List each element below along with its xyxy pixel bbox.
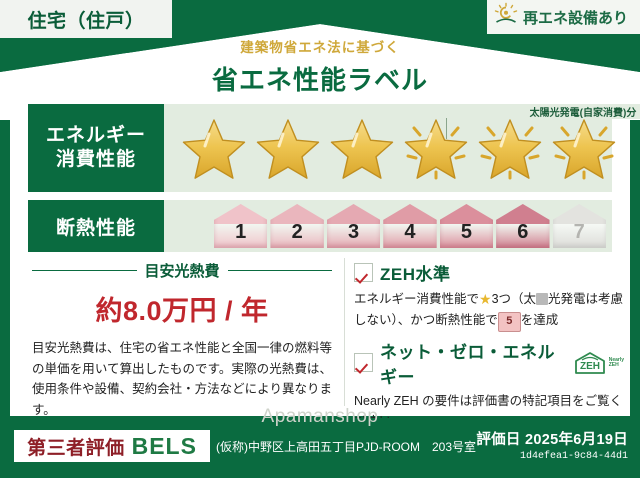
insulation-level-house-1: 1 bbox=[214, 204, 267, 248]
insulation-performance-label: 断熱性能 bbox=[28, 200, 164, 252]
zeh-logo-subtext: Nearly ZEH bbox=[609, 358, 624, 369]
zeh-level-title-row: ZEH水準 bbox=[354, 260, 624, 285]
zeh-logo: ZEH Nearly ZEH bbox=[573, 351, 624, 375]
insulation-level-scale: 1234567 bbox=[214, 200, 606, 252]
bels-logo-en: BELS bbox=[132, 433, 197, 460]
rule-right bbox=[228, 270, 333, 271]
zeh-desc-part-3: 光発電 bbox=[548, 292, 586, 306]
evaluation-id: 1d4efea1-9c84-44d1 bbox=[476, 451, 628, 462]
label-heading: 建築物省エネ法に基づく 省エネ性能ラベル bbox=[0, 36, 640, 97]
evaluation-info: 評価日 2025年6月19日 1d4efea1-9c84-44d1 bbox=[476, 428, 628, 462]
svg-text:ZEH: ZEH bbox=[580, 361, 600, 372]
renewable-equipment-badge: 再エネ設備あり bbox=[485, 0, 640, 36]
energy-star-2 bbox=[252, 111, 324, 185]
zeh-desc-part-5: を達成 bbox=[521, 313, 559, 327]
solar-portion-caption: 太陽光発電(自家消費)分 bbox=[447, 104, 640, 119]
zeh-house-icon: ZEH bbox=[573, 351, 607, 375]
insulation-level-house-2: 2 bbox=[270, 204, 323, 248]
zeh-level-checkbox-icon bbox=[354, 263, 373, 282]
insulation-performance-row: 断熱性能 1234567 bbox=[28, 200, 612, 252]
utility-cost-amount: 約8.0万円 / 年 bbox=[32, 289, 332, 328]
insulation-level-house-3: 3 bbox=[327, 204, 380, 248]
insulation-level-house-7: 7 bbox=[553, 204, 606, 248]
watermark: Apamanshop bbox=[0, 406, 640, 428]
zeh-desc-part-1: エネルギー消費性能で bbox=[354, 292, 479, 306]
zeh-level-block: ZEH水準 エネルギー消費性能で★3つ（太光発電は考慮しない）、かつ断熱性能で5… bbox=[354, 260, 624, 332]
heading-title: 省エネ性能ラベル bbox=[0, 60, 640, 97]
insulation-level-number: 3 bbox=[348, 221, 359, 244]
bels-logo-jp: 第三者評価 bbox=[27, 433, 125, 460]
rule-left bbox=[32, 270, 137, 271]
property-address: (仮称)中野区上高田五丁目PJD-ROOM 203号室 bbox=[216, 438, 476, 455]
energy-performance-label: エネルギー 消費性能 bbox=[28, 104, 164, 192]
insulation-level-number: 5 bbox=[461, 221, 472, 244]
energy-star-1 bbox=[178, 111, 250, 185]
evaluation-date: 評価日 2025年6月19日 bbox=[476, 428, 628, 449]
energy-performance-value: 太陽光発電(自家消費)分 bbox=[164, 104, 612, 192]
building-type-badge: 住宅（住戸） bbox=[0, 0, 174, 40]
zeh-level-description: エネルギー消費性能で★3つ（太光発電は考慮しない）、かつ断熱性能で5を達成 bbox=[354, 288, 624, 332]
net-zero-title: ネット・ゼロ・エネルギー bbox=[380, 338, 562, 388]
zeh-level-title: ZEH水準 bbox=[380, 260, 451, 285]
redacted-character bbox=[536, 293, 548, 305]
insulation-level-number: 4 bbox=[404, 221, 415, 244]
insulation-level-number: 2 bbox=[292, 221, 303, 244]
insulation-level-house-5: 5 bbox=[440, 204, 493, 248]
sun-icon bbox=[493, 2, 519, 33]
insulation-level-house-4: 4 bbox=[383, 204, 436, 248]
insulation-level-number: 7 bbox=[574, 221, 585, 244]
energy-star-3 bbox=[326, 111, 398, 185]
label-card: エネルギー 消費性能 太陽光発電(自家消費)分 断熱性能 1234567 bbox=[10, 88, 630, 416]
energy-performance-row: エネルギー 消費性能 太陽光発電(自家消費)分 bbox=[28, 104, 612, 192]
inline-star-icon: ★ bbox=[479, 291, 492, 307]
insulation-level-number: 6 bbox=[517, 221, 528, 244]
bels-logo: 第三者評価 BELS bbox=[14, 430, 210, 462]
insulation-level-number: 1 bbox=[235, 221, 246, 244]
utility-cost-heading: 目安光熱費 bbox=[32, 260, 332, 281]
utility-cost-heading-label: 目安光熱費 bbox=[145, 260, 220, 281]
utility-cost-section: 目安光熱費 約8.0万円 / 年 目安光熱費は、住宅の省エネ性能と全国一律の燃料… bbox=[32, 260, 332, 421]
net-zero-title-row: ネット・ゼロ・エネルギー ZEH Nearly ZEH bbox=[354, 338, 624, 388]
zeh-desc-part-2: 3つ（太 bbox=[492, 292, 536, 306]
zeh-logo-sub-2: ZEH bbox=[609, 362, 619, 368]
heading-subtitle: 建築物省エネ法に基づく bbox=[0, 36, 640, 56]
net-zero-checkbox-icon bbox=[354, 353, 373, 372]
insulation-level-house-6: 6 bbox=[496, 204, 549, 248]
insulation-grade-chip: 5 bbox=[498, 312, 521, 332]
label-canvas: 住宅（住戸） 再エネ設備あり 建築物省エネ法に基づく 省エネ性能ラベル bbox=[0, 0, 640, 478]
building-type-label: 住宅（住戸） bbox=[27, 6, 144, 33]
insulation-performance-value: 1234567 bbox=[164, 200, 612, 252]
renewable-equipment-label: 再エネ設備あり bbox=[523, 7, 628, 28]
column-divider bbox=[344, 258, 345, 406]
solar-portion-bracket: 太陽光発電(自家消費)分 bbox=[446, 118, 640, 139]
